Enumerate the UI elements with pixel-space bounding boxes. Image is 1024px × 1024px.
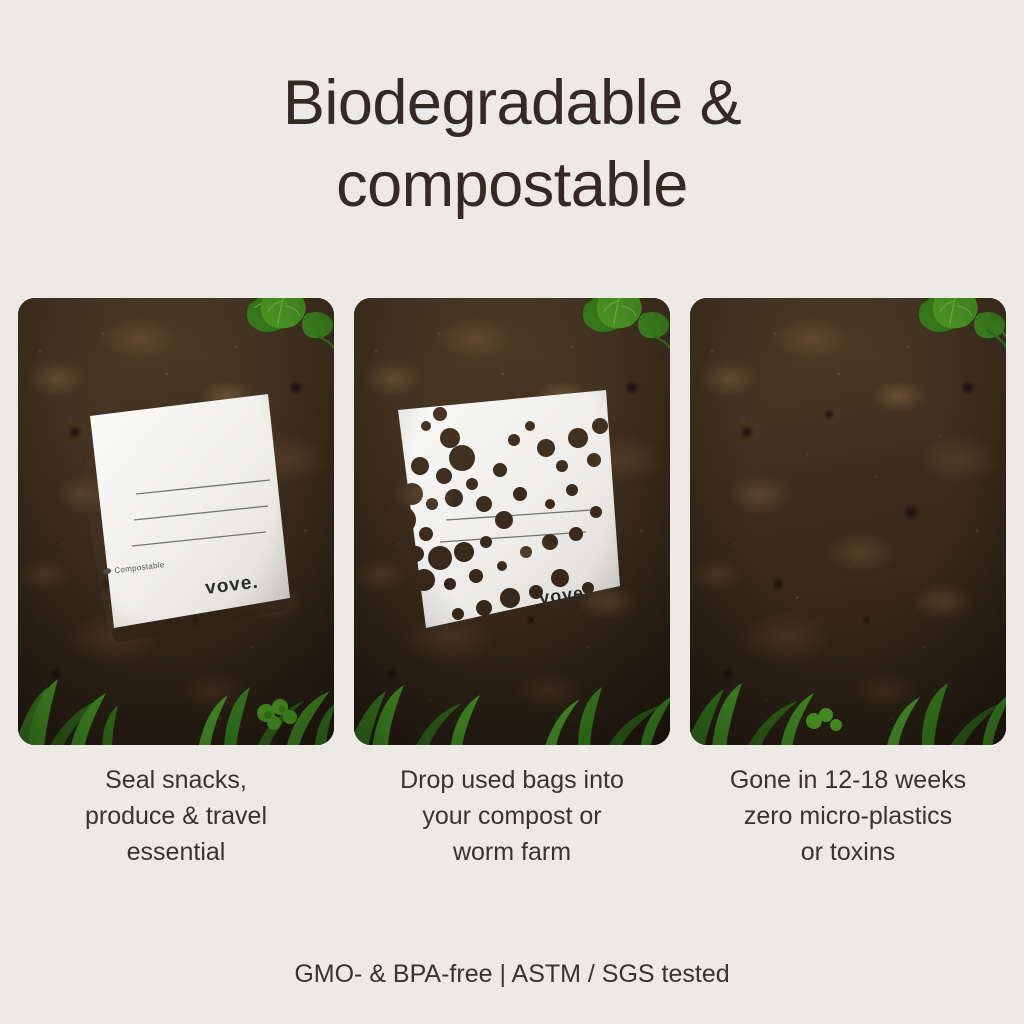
caption-line: worm farm — [354, 834, 670, 870]
caption-line: zero micro-plastics — [690, 798, 1006, 834]
grass-decor — [18, 609, 334, 745]
caption-line: or toxins — [690, 834, 1006, 870]
leaf-icon — [210, 298, 334, 396]
title-line-1: Biodegradable & — [0, 62, 1024, 144]
title-line-2: compostable — [0, 144, 1024, 226]
panel-fully-decomposed[interactable] — [690, 298, 1006, 745]
caption-line: essential — [18, 834, 334, 870]
caption-line: Drop used bags into — [354, 762, 670, 798]
panel-sealed-bag[interactable]: Compostable vove. — [18, 298, 334, 745]
caption-line: Seal snacks, — [18, 762, 334, 798]
grass-decor — [354, 609, 670, 745]
certification-footer: GMO- & BPA-free | ASTM / SGS tested — [0, 957, 1024, 991]
caption-sealed-bag: Seal snacks, produce & travel essential — [18, 762, 334, 870]
caption-line: your compost or — [354, 798, 670, 834]
caption-line: produce & travel — [18, 798, 334, 834]
page-title: Biodegradable & compostable — [0, 62, 1024, 226]
leaf-icon — [546, 298, 670, 396]
caption-row: Seal snacks, produce & travel essential … — [18, 762, 1006, 870]
panel-decomposing-bag[interactable]: vove. — [354, 298, 670, 745]
caption-fully-decomposed: Gone in 12-18 weeks zero micro-plastics … — [690, 762, 1006, 870]
leaf-icon — [882, 298, 1006, 396]
caption-decomposing-bag: Drop used bags into your compost or worm… — [354, 762, 670, 870]
grass-decor — [690, 609, 1006, 745]
panel-row: Compostable vove. — [18, 298, 1006, 745]
caption-line: Gone in 12-18 weeks — [690, 762, 1006, 798]
